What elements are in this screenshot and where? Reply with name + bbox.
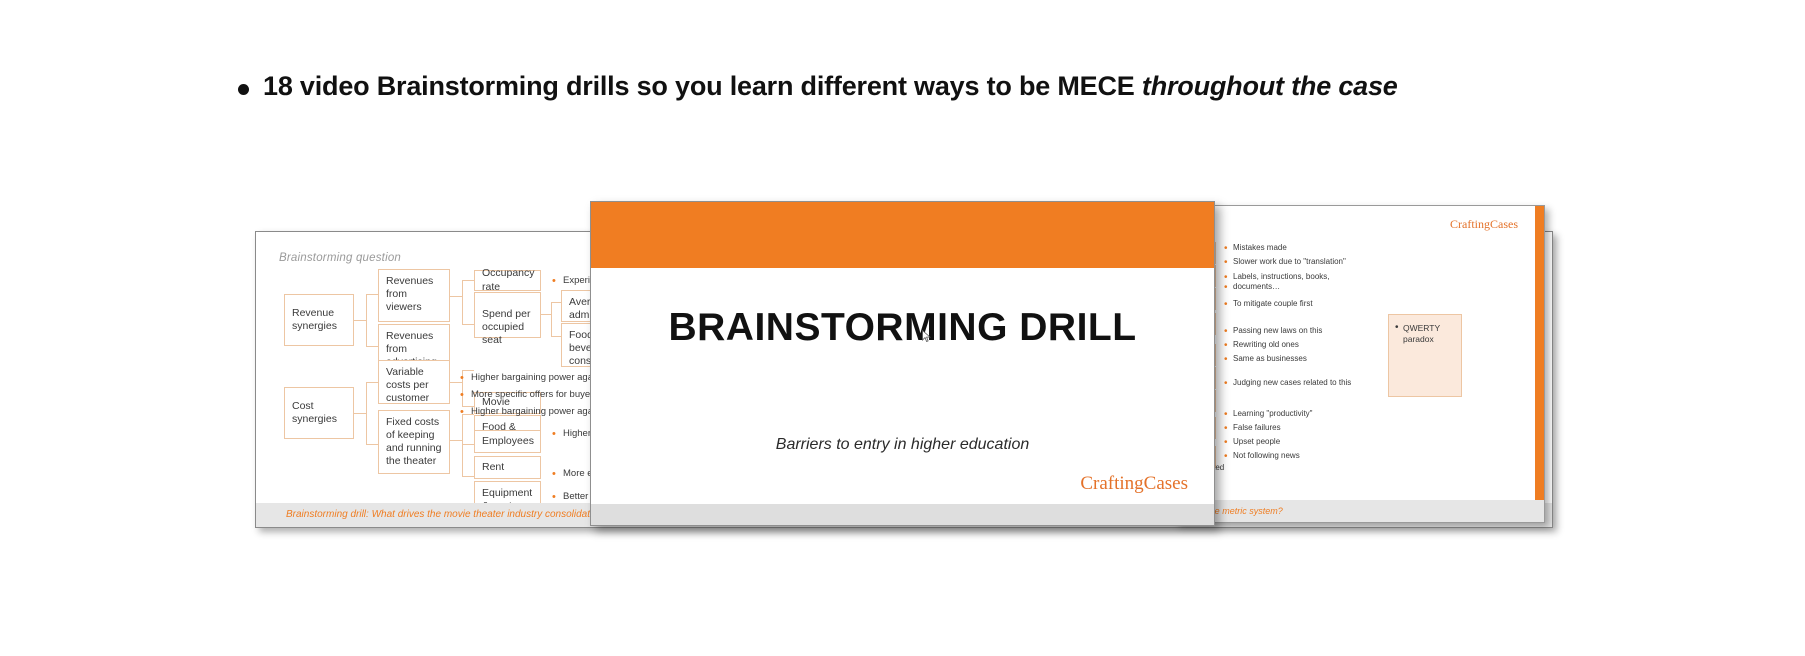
tree-connector [462,280,474,281]
tree-connector [462,324,474,325]
slide-center-title[interactable]: BRAINSTORMING DRILL Barriers to entry in… [590,201,1215,526]
slide-left-question-label: Brainstorming question [279,252,401,264]
tree-node-revenues-from-viewers: Revenues from viewers [378,269,450,322]
tree-bullet: More specific offers for buyers [471,389,598,401]
slide-center-bottom-strip [591,504,1214,525]
tree-connector [354,413,366,414]
slide-right-bullet: Upset people [1233,437,1280,448]
tree-connector [366,382,378,383]
tree-node-variable-costs: Variable costs per customer [378,360,450,404]
mouse-cursor-icon [922,330,931,343]
tree-node-label: Revenue synergies [292,307,346,333]
tree-node-fixed-costs: Fixed costs of keeping and running the t… [378,410,450,474]
slide-right-qwerty[interactable]: CraftingCases Mistakes made Slower work … [1175,205,1545,523]
tree-connector [462,280,463,324]
tree-node-rent: Rent [474,456,541,479]
slide-left-footer-text: Brainstorming drill: What drives the mov… [286,509,609,520]
tree-node-label: Revenues from viewers [386,275,442,314]
tree-connector [541,314,551,315]
slide-right-bullet: Learning "productivity" [1233,409,1313,420]
slide-right-bullet: Same as businesses [1233,354,1307,365]
slide-right-bullet: Mistakes made [1233,243,1287,254]
tree-node-label: Fixed costs of keeping and running the t… [386,416,442,469]
tree-connector [366,294,367,346]
slide-right-bullet: False failures [1233,423,1281,434]
tree-node-label: Variable costs per customer [386,366,442,405]
tree-node-occupancy-rate: Occupancy rate [474,270,541,291]
slide-center-title-text: BRAINSTORMING DRILL [591,306,1214,350]
slide-right-bullet: Slower work due to "translation" [1233,257,1346,268]
slide-right-footer: A into the metric system? [1176,500,1544,522]
tree-connector [551,302,561,303]
tree-node-label: Rent [482,461,504,474]
slide-right-bullet: Judging new cases related to this [1233,378,1351,389]
slide-right-bullet-cont: documents… [1233,282,1280,293]
tree-connector [450,440,462,441]
slide-right-bullet: To mitigate couple first [1233,299,1313,310]
tree-connector [551,336,561,337]
slide-deck-stage: Brainstorming question Revenue synergies… [0,0,1805,656]
tree-node-employees: Employees [474,430,541,453]
tree-connector [354,320,366,321]
tree-connector [462,476,474,477]
tree-node-revenue-synergies: Revenue synergies [284,294,354,346]
tree-connector [366,444,378,445]
tree-node-label: Employees [482,435,534,448]
tree-connector [551,302,552,336]
tree-connector [366,294,378,295]
slide-right-accent-bar [1535,206,1544,522]
slide-center-subtitle-text: Barriers to entry in higher education [591,436,1214,454]
tree-node-cost-synergies: Cost synergies [284,387,354,439]
tree-connector [450,296,462,297]
tree-connector [366,382,367,444]
tree-node-label: Spend per occupied seat [482,308,533,347]
slide-right-bullet: Rewriting old ones [1233,340,1299,351]
tree-connector [462,414,463,476]
tree-node-label: Cost synergies [292,400,346,426]
tree-node-label: Occupancy rate [482,267,535,293]
tree-node-spend-per-seat: Spend per occupied seat [474,292,541,338]
qwerty-paradox-callout: QWERTY paradox [1388,314,1462,397]
craftingcases-logo: CraftingCases [1080,473,1188,495]
slide-center-orange-band [591,202,1214,268]
slide-right-bullet: Not following news [1233,451,1300,462]
tree-connector [366,346,378,347]
slide-right-bullet: Passing new laws on this [1233,326,1322,337]
tree-connector [462,444,474,445]
craftingcases-logo: CraftingCases [1450,217,1518,232]
